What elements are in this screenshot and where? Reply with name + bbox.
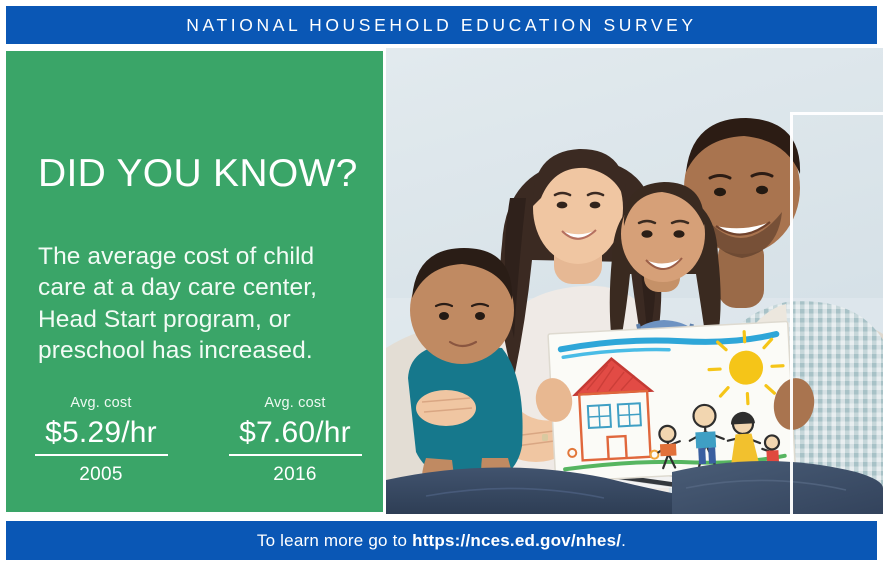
header-banner: NATIONAL HOUSEHOLD EDUCATION SURVEY — [6, 6, 877, 44]
footer-url-link[interactable]: https://nces.ed.gov/nhes/ — [412, 531, 621, 550]
footer-text: To learn more go to https://nces.ed.gov/… — [257, 531, 626, 551]
footer-lead-text: To learn more go to — [257, 531, 412, 550]
footer-banner: To learn more go to https://nces.ed.gov/… — [6, 521, 877, 560]
stat-year: 2005 — [26, 464, 176, 486]
stat-value: $7.60/hr — [220, 414, 370, 452]
headline-did-you-know: DID YOU KNOW? — [38, 154, 358, 193]
stat-2016: Avg. cost $7.60/hr 2016 — [220, 396, 370, 486]
statistics-group: Avg. cost $5.29/hr 2005 Avg. cost $7.60/… — [26, 396, 371, 486]
stat-divider — [35, 454, 168, 456]
stat-label: Avg. cost — [220, 396, 370, 412]
stat-divider — [229, 454, 362, 456]
header-title: NATIONAL HOUSEHOLD EDUCATION SURVEY — [186, 15, 696, 36]
family-photo-illustration — [386, 48, 883, 514]
footer-trailing-period: . — [621, 531, 626, 550]
stat-label: Avg. cost — [26, 396, 176, 412]
stat-year: 2016 — [220, 464, 370, 486]
stat-2005: Avg. cost $5.29/hr 2005 — [26, 396, 176, 486]
green-content-panel: DID YOU KNOW? The average cost of child … — [6, 51, 383, 512]
body-copy: The average cost of child care at a day … — [38, 241, 368, 366]
family-photo — [386, 48, 883, 514]
infographic-canvas: NATIONAL HOUSEHOLD EDUCATION SURVEY DID … — [0, 0, 883, 566]
stat-value: $5.29/hr — [26, 414, 176, 452]
